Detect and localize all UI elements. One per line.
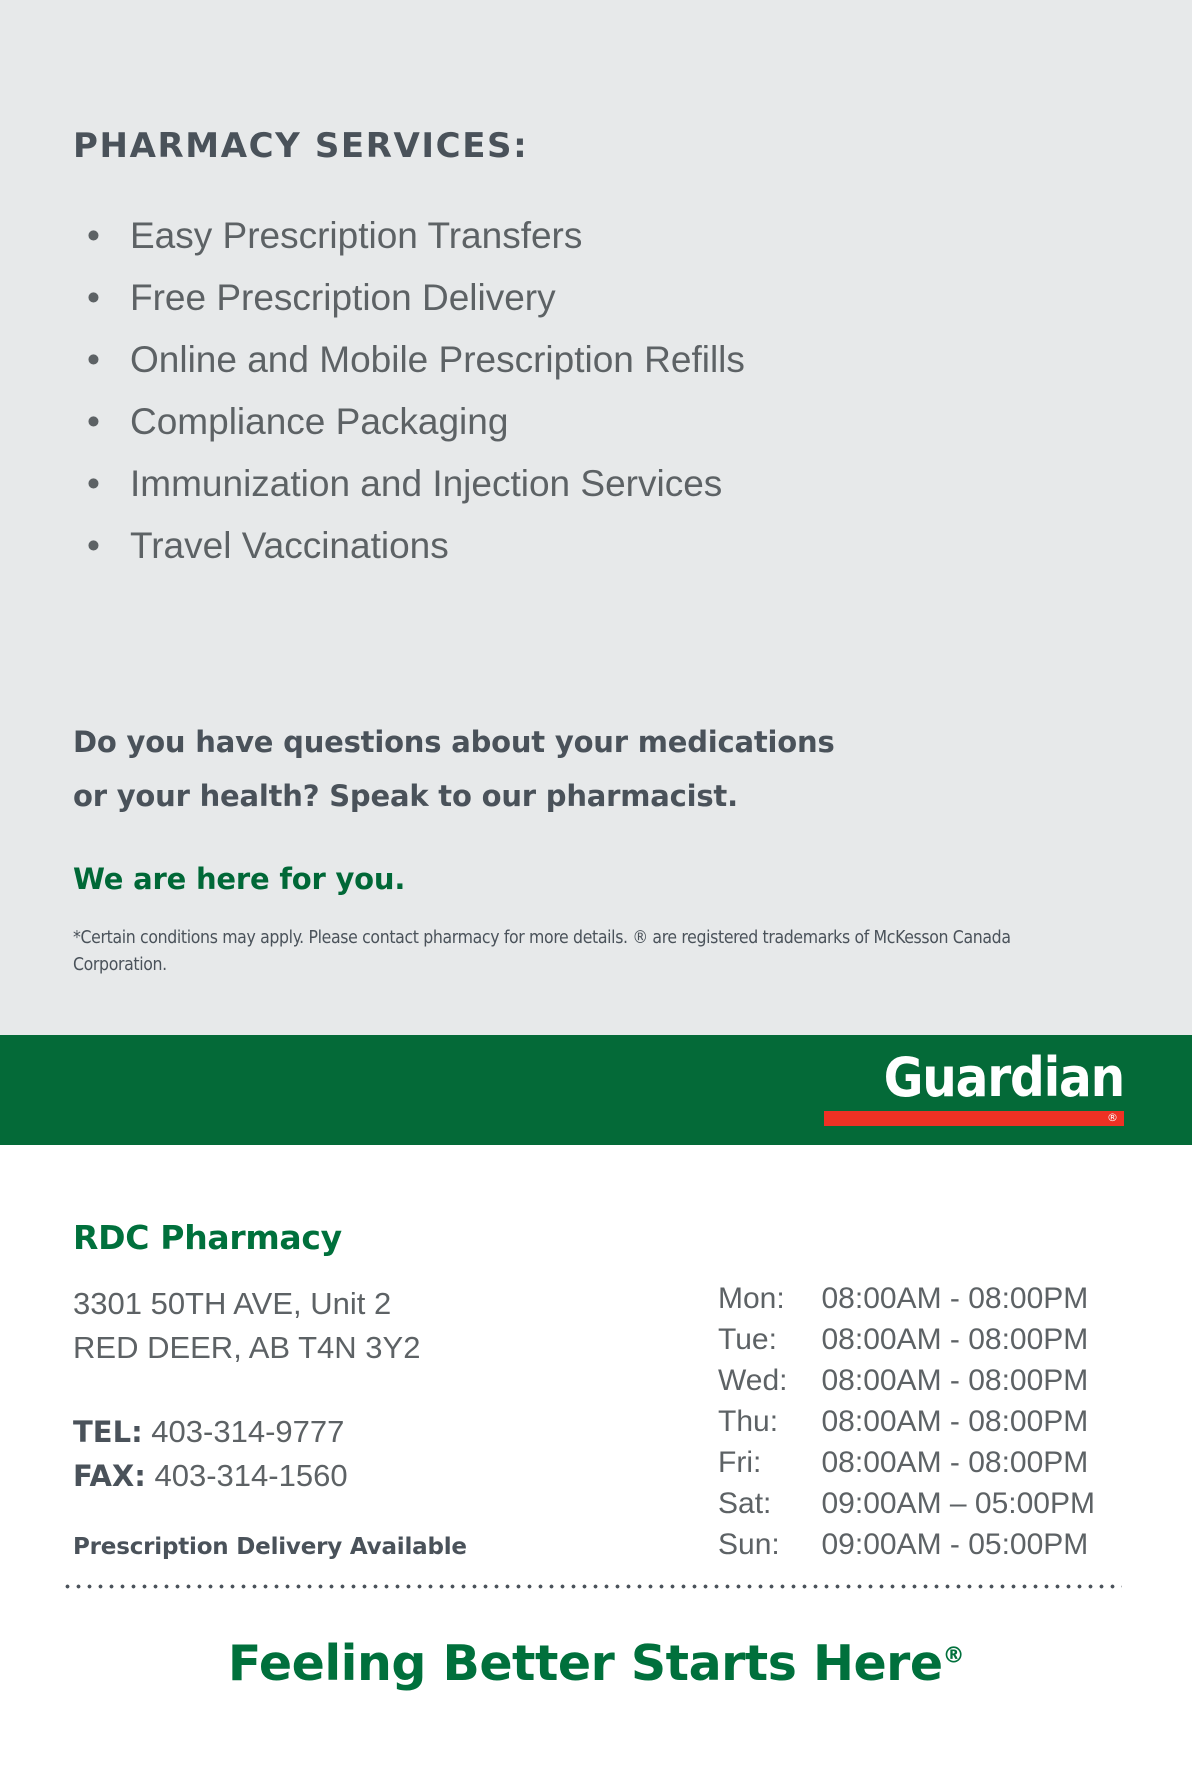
services-list: • Easy Prescription Transfers • Free Pre…: [75, 205, 1075, 577]
service-label: Compliance Packaging: [130, 401, 508, 442]
here-for-you-text: We are here for you.: [73, 862, 405, 896]
list-item: • Free Prescription Delivery: [75, 267, 1075, 329]
hours-time: 08:00AM - 08:00PM: [821, 1401, 1095, 1442]
list-item: • Travel Vaccinations: [75, 515, 1075, 577]
table-row: Wed: 08:00AM - 08:00PM: [718, 1360, 1095, 1401]
hours-time: 08:00AM - 08:00PM: [821, 1442, 1095, 1483]
hours-day: Tue:: [718, 1319, 821, 1360]
hours-day: Fri:: [718, 1442, 821, 1483]
hours-time: 08:00AM - 08:00PM: [821, 1319, 1095, 1360]
guardian-logo: Guardian ®: [824, 1047, 1124, 1126]
service-label: Online and Mobile Prescription Refills: [130, 339, 745, 380]
table-row: Sat: 09:00AM – 05:00PM: [718, 1483, 1095, 1524]
bullet-icon: •: [87, 329, 100, 391]
hours-time: 09:00AM - 05:00PM: [821, 1524, 1095, 1565]
dotted-divider: [62, 1583, 1122, 1590]
delivery-note: Prescription Delivery Available: [73, 1534, 467, 1560]
services-heading: PHARMACY SERVICES:: [73, 126, 528, 166]
bullet-icon: •: [87, 515, 100, 577]
tagline: Feeling Better Starts Here®: [0, 1635, 1192, 1692]
telephone-label: TEL:: [73, 1415, 143, 1449]
fax-row: FAX: 403-314-1560: [73, 1454, 348, 1498]
table-row: Mon: 08:00AM - 08:00PM: [718, 1278, 1095, 1319]
disclaimer-text: *Certain conditions may apply. Please co…: [73, 925, 1063, 979]
table-row: Fri: 08:00AM - 08:00PM: [718, 1442, 1095, 1483]
hours-time: 08:00AM - 08:00PM: [821, 1360, 1095, 1401]
question-line-1: Do you have questions about your medicat…: [73, 715, 1083, 769]
hours-time: 08:00AM - 08:00PM: [821, 1278, 1095, 1319]
list-item: • Online and Mobile Prescription Refills: [75, 329, 1075, 391]
service-label: Easy Prescription Transfers: [130, 215, 582, 256]
telephone-row: TEL: 403-314-9777: [73, 1410, 348, 1454]
list-item: • Immunization and Injection Services: [75, 453, 1075, 515]
guardian-logo-wordmark: Guardian: [824, 1047, 1124, 1109]
registered-trademark-icon: ®: [943, 1644, 965, 1669]
service-label: Free Prescription Delivery: [130, 277, 556, 318]
hours-day: Thu:: [718, 1401, 821, 1442]
hours-time: 09:00AM – 05:00PM: [821, 1483, 1095, 1524]
flyer-page: PHARMACY SERVICES: • Easy Prescription T…: [0, 0, 1192, 1785]
pharmacist-question: Do you have questions about your medicat…: [73, 715, 1083, 823]
service-label: Immunization and Injection Services: [130, 463, 722, 504]
store-name: RDC Pharmacy: [73, 1218, 342, 1257]
services-panel: PHARMACY SERVICES: • Easy Prescription T…: [0, 0, 1192, 1035]
address-line-1: 3301 50TH AVE, Unit 2: [73, 1282, 420, 1326]
bullet-icon: •: [87, 453, 100, 515]
table-row: Sun: 09:00AM - 05:00PM: [718, 1524, 1095, 1565]
bullet-icon: •: [87, 391, 100, 453]
fax-label: FAX:: [73, 1459, 146, 1493]
address-line-2: RED DEER, AB T4N 3Y2: [73, 1326, 420, 1370]
store-hours-table: Mon: 08:00AM - 08:00PM Tue: 08:00AM - 08…: [718, 1278, 1095, 1565]
telephone-value: 403-314-9777: [151, 1414, 344, 1449]
bullet-icon: •: [87, 267, 100, 329]
brand-banner: Guardian ®: [0, 1035, 1192, 1145]
list-item: • Compliance Packaging: [75, 391, 1075, 453]
store-address: 3301 50TH AVE, Unit 2 RED DEER, AB T4N 3…: [73, 1282, 420, 1370]
guardian-logo-bar: ®: [824, 1111, 1124, 1126]
hours-day: Sat:: [718, 1483, 821, 1524]
table-row: Thu: 08:00AM - 08:00PM: [718, 1401, 1095, 1442]
fax-value: 403-314-1560: [155, 1458, 348, 1493]
hours-day: Mon:: [718, 1278, 821, 1319]
question-line-2: or your health? Speak to our pharmacist.: [73, 769, 1083, 823]
bullet-icon: •: [87, 205, 100, 267]
hours-day: Wed:: [718, 1360, 821, 1401]
list-item: • Easy Prescription Transfers: [75, 205, 1075, 267]
table-row: Tue: 08:00AM - 08:00PM: [718, 1319, 1095, 1360]
registered-trademark-icon: ®: [1107, 1110, 1118, 1126]
hours-day: Sun:: [718, 1524, 821, 1565]
store-contact-numbers: TEL: 403-314-9777 FAX: 403-314-1560: [73, 1410, 348, 1498]
tagline-text: Feeling Better Starts Here: [228, 1635, 943, 1692]
service-label: Travel Vaccinations: [130, 525, 449, 566]
